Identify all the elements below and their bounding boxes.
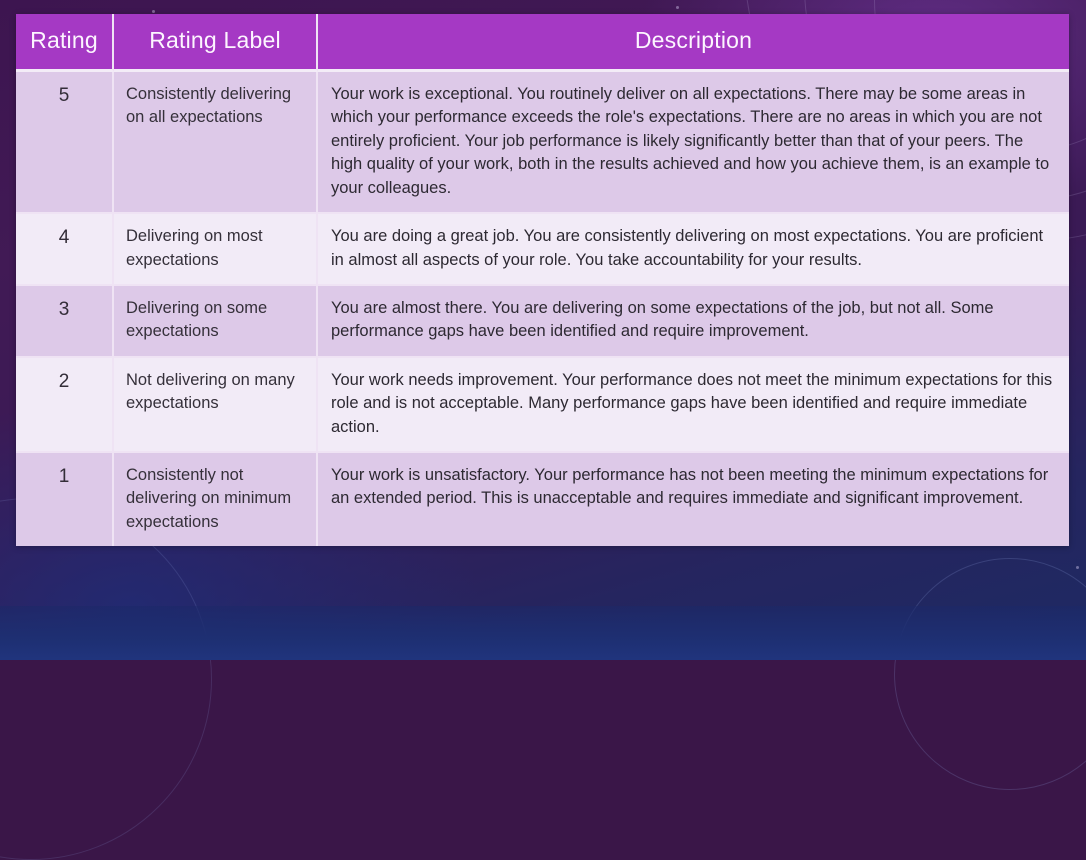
cell-rating-label: Consistently not delivering on minimum e… — [114, 453, 318, 546]
table-row: 5 Consistently delivering on all expecta… — [16, 72, 1069, 214]
cell-description: You are doing a great job. You are consi… — [318, 214, 1069, 286]
table-row: 3 Delivering on some expectations You ar… — [16, 286, 1069, 358]
cell-rating: 1 — [16, 453, 114, 546]
cell-description: Your work is exceptional. You routinely … — [318, 72, 1069, 214]
cell-rating: 2 — [16, 358, 114, 453]
bottom-color-band — [0, 606, 1086, 660]
table-header: Rating Rating Label Description — [16, 14, 1069, 72]
table-row: 2 Not delivering on many expectations Yo… — [16, 358, 1069, 453]
column-header-rating-label: Rating Label — [114, 14, 318, 72]
decorative-speck — [152, 10, 155, 13]
cell-rating-label: Delivering on most expectations — [114, 214, 318, 286]
rating-scale-table-container: Rating Rating Label Description 5 Consis… — [16, 14, 1069, 546]
cell-rating-label: Consistently delivering on all expectati… — [114, 72, 318, 214]
cell-description: Your work is unsatisfactory. Your perfor… — [318, 453, 1069, 546]
cell-rating-label: Delivering on some expectations — [114, 286, 318, 358]
decorative-speck — [676, 6, 679, 9]
rating-scale-table: Rating Rating Label Description 5 Consis… — [16, 14, 1069, 546]
table-header-row: Rating Rating Label Description — [16, 14, 1069, 72]
table-row: 4 Delivering on most expectations You ar… — [16, 214, 1069, 286]
decorative-arc — [894, 558, 1086, 790]
decorative-arc — [0, 498, 212, 860]
cell-rating-label: Not delivering on many expectations — [114, 358, 318, 453]
cell-rating: 3 — [16, 286, 114, 358]
cell-rating: 4 — [16, 214, 114, 286]
decorative-speck — [1076, 566, 1079, 569]
cell-description: Your work needs improvement. Your perfor… — [318, 358, 1069, 453]
cell-rating: 5 — [16, 72, 114, 214]
cell-description: You are almost there. You are delivering… — [318, 286, 1069, 358]
column-header-rating: Rating — [16, 14, 114, 72]
table-row: 1 Consistently not delivering on minimum… — [16, 453, 1069, 546]
column-header-description: Description — [318, 14, 1069, 72]
table-body: 5 Consistently delivering on all expecta… — [16, 72, 1069, 546]
